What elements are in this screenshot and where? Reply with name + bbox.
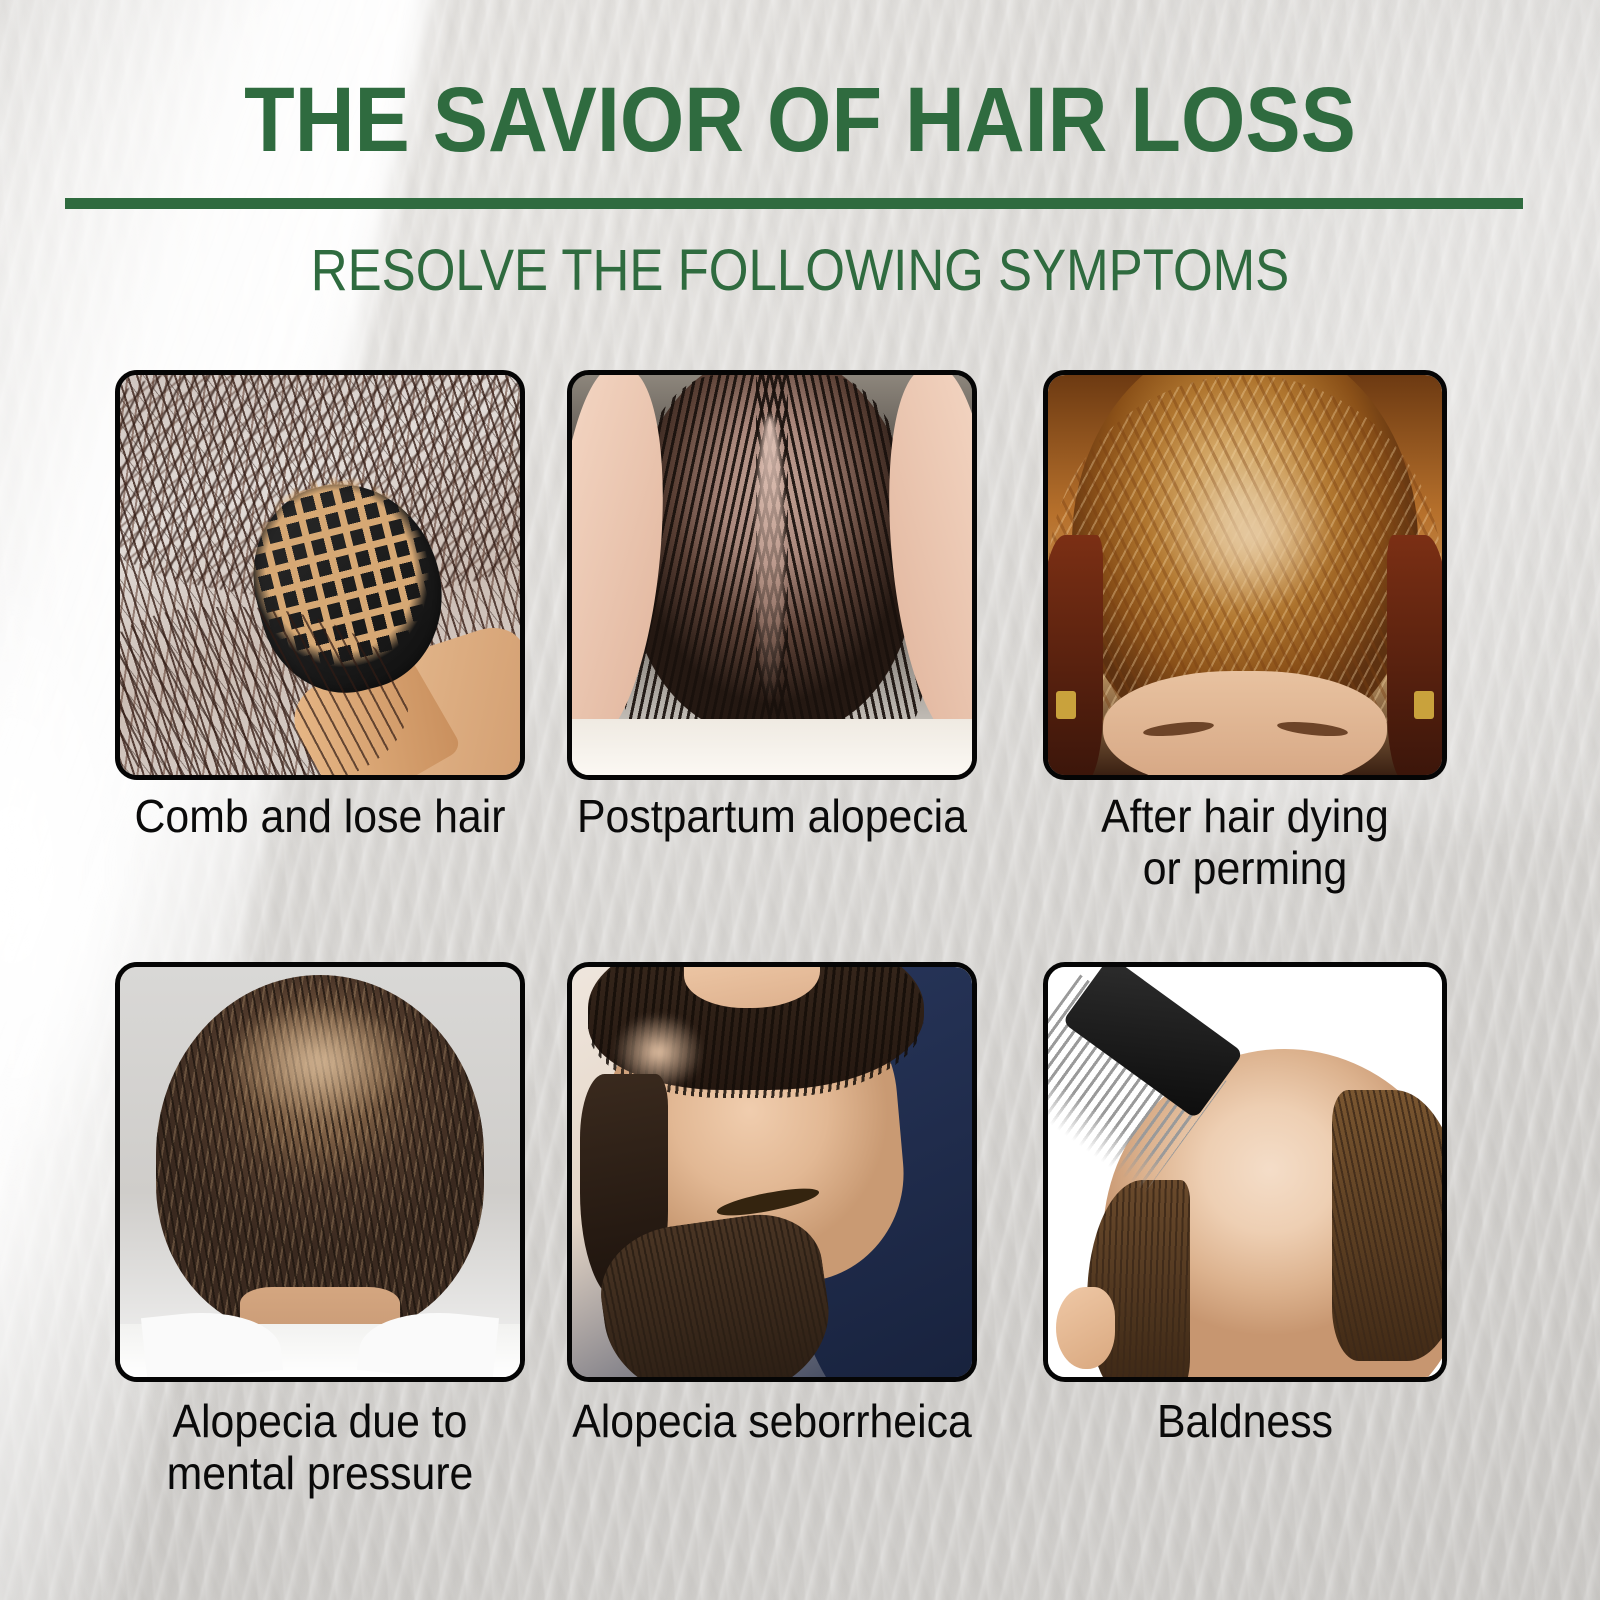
symptom-image-frame (115, 370, 525, 780)
symptom-card-comb-and-lose-hair (115, 370, 525, 780)
symptom-card-after-hair-dying-or-perming (1043, 370, 1447, 780)
auburn-hair-thinning-crown-photo (1048, 375, 1442, 775)
symptom-caption: Alopecia seborrheica (563, 1395, 982, 1447)
symptom-card-alopecia-seborrheica (567, 962, 977, 1382)
symptom-card-postpartum-alopecia (567, 370, 977, 780)
symptom-caption: Postpartum alopecia (563, 790, 982, 842)
symptom-caption: After hair dying or perming (1036, 790, 1455, 894)
thinning-crown-hands-on-head-photo (572, 375, 972, 775)
comb-with-fallen-hair-photo (120, 375, 520, 775)
symptom-card-alopecia-due-to-mental-pressure (115, 962, 525, 1382)
bald-head-with-comb-photo (1048, 967, 1442, 1377)
symptom-caption: Alopecia due to mental pressure (111, 1395, 530, 1499)
symptom-image-frame (115, 962, 525, 1382)
symptom-image-frame (1043, 370, 1447, 780)
symptom-image-frame (567, 962, 977, 1382)
symptom-image-frame (1043, 962, 1447, 1382)
receding-hairline-man-navy-shirt-photo (572, 967, 972, 1377)
symptom-caption: Comb and lose hair (111, 790, 530, 842)
symptom-card-baldness (1043, 962, 1447, 1382)
symptom-image-frame (567, 370, 977, 780)
symptom-caption: Baldness (1036, 1395, 1455, 1447)
symptom-grid: Comb and lose hair Postpartum alopecia (0, 0, 1600, 1600)
thinning-crown-white-shirt-photo (120, 967, 520, 1377)
